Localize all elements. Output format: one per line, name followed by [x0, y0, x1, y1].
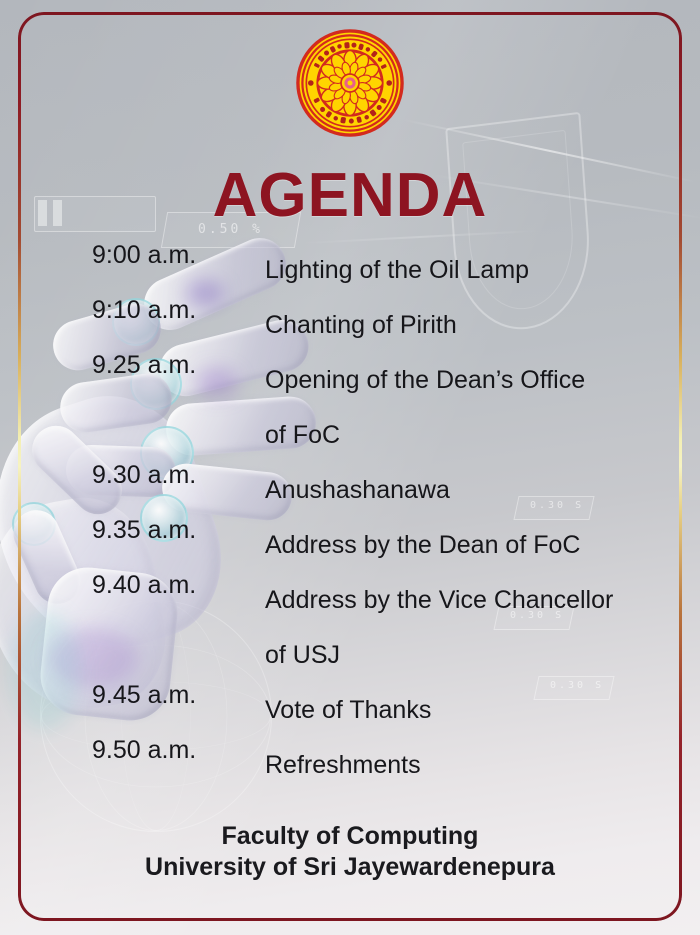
agenda-row: 9.45 a.m. Vote of Thanks — [92, 683, 662, 738]
agenda-row: 9.25 a.m. Opening of the Dean’s Office o… — [92, 353, 662, 463]
agenda-description: Refreshments — [265, 738, 421, 793]
agenda-time: 9.40 a.m. — [92, 573, 265, 598]
footer-faculty: Faculty of Computing — [0, 821, 700, 852]
agenda-time: 9:00 a.m. — [92, 243, 265, 268]
agenda-list: 9:00 a.m. Lighting of the Oil Lamp 9:10 … — [92, 243, 662, 793]
agenda-row: 9:00 a.m. Lighting of the Oil Lamp — [92, 243, 662, 298]
agenda-time: 9.50 a.m. — [92, 738, 265, 763]
agenda-time: 9.35 a.m. — [92, 518, 265, 543]
agenda-time: 9.45 a.m. — [92, 683, 265, 708]
agenda-description: Chanting of Pirith — [265, 298, 457, 353]
university-emblem-icon — [294, 27, 406, 139]
agenda-description: Lighting of the Oil Lamp — [265, 243, 529, 298]
agenda-row: 9.30 a.m. Anushashanawa — [92, 463, 662, 518]
agenda-time: 9.30 a.m. — [92, 463, 265, 488]
agenda-description: Address by the Vice Chancellor of USJ — [265, 573, 613, 683]
footer: Faculty of Computing University of Sri J… — [0, 821, 700, 883]
agenda-time: 9.25 a.m. — [92, 353, 265, 378]
agenda-row: 9.50 a.m. Refreshments — [92, 738, 662, 793]
footer-university: University of Sri Jayewardenepura — [0, 852, 700, 883]
page-title: AGENDA — [0, 160, 700, 231]
agenda-description: Anushashanawa — [265, 463, 450, 518]
agenda-row: 9.35 a.m. Address by the Dean of FoC — [92, 518, 662, 573]
agenda-description: Address by the Dean of FoC — [265, 518, 580, 573]
agenda-description: Opening of the Dean’s Office of FoC — [265, 353, 585, 463]
agenda-description: Vote of Thanks — [265, 683, 431, 738]
agenda-row: 9:10 a.m. Chanting of Pirith — [92, 298, 662, 353]
agenda-time: 9:10 a.m. — [92, 298, 265, 323]
agenda-poster: 0.50 % 0.30 S 0.30 S 0.30 S — [0, 0, 700, 935]
agenda-row: 9.40 a.m. Address by the Vice Chancellor… — [92, 573, 662, 683]
